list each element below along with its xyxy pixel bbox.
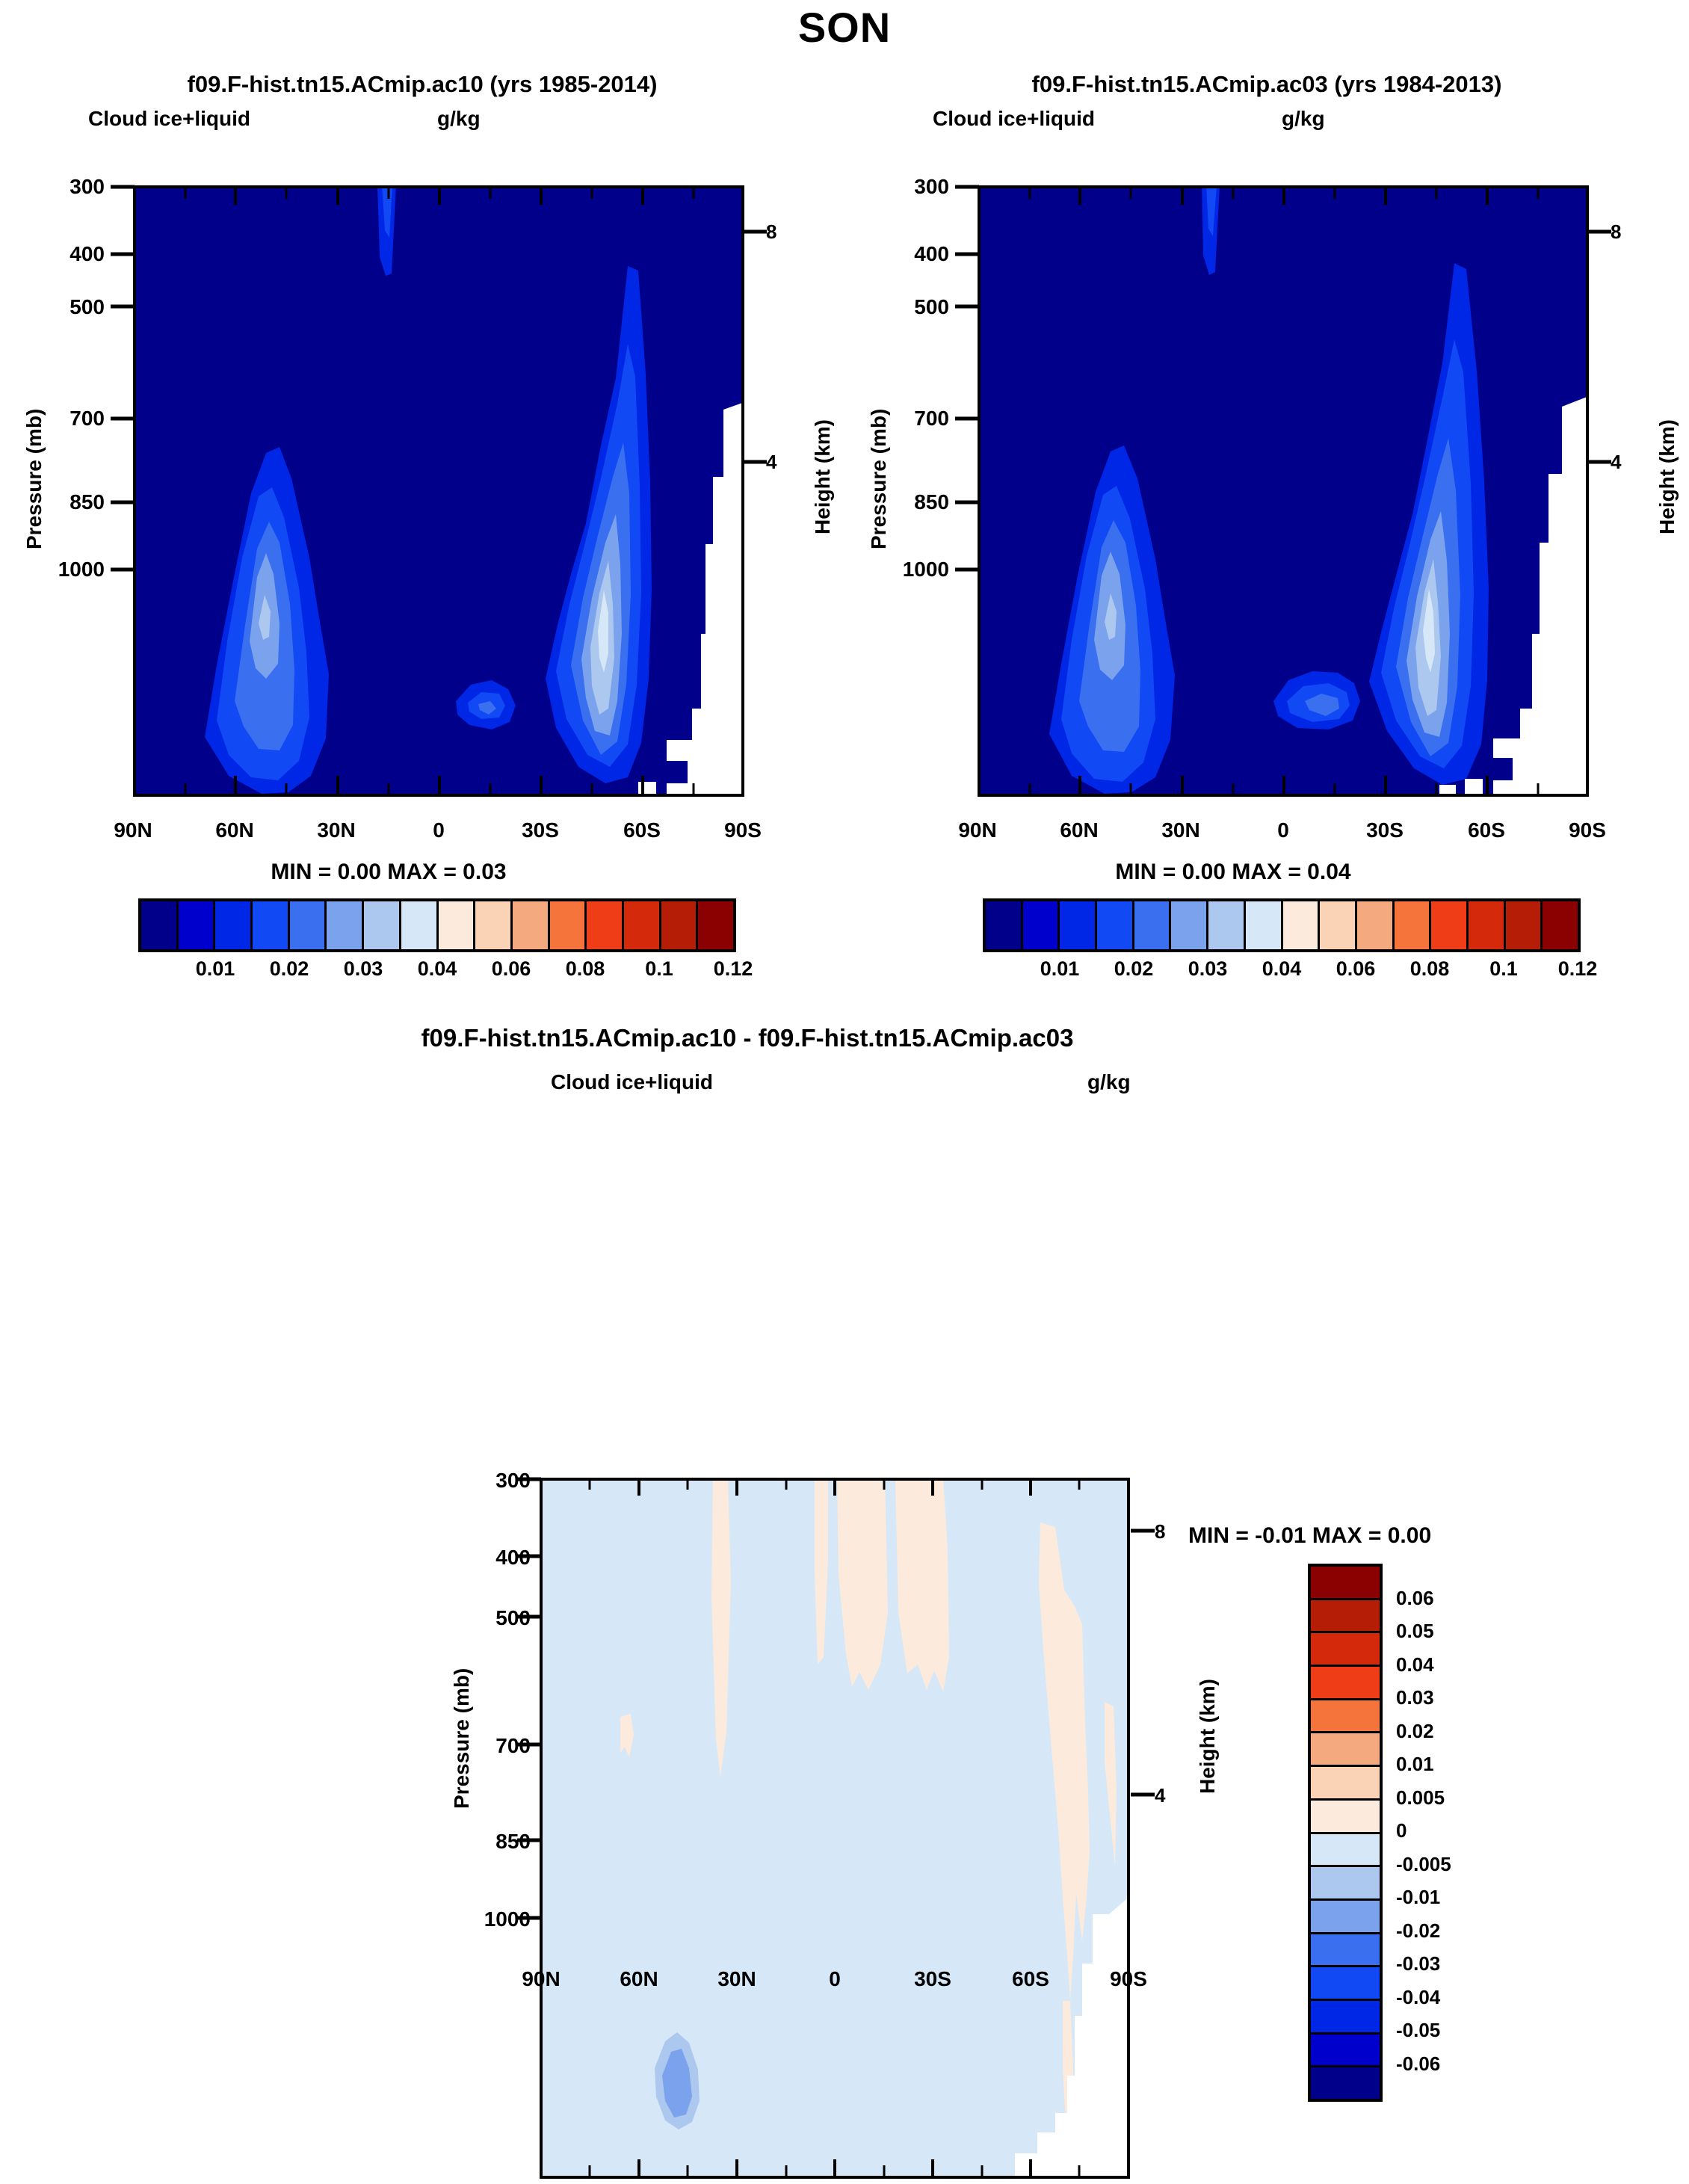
panel-left-colorbar	[138, 898, 736, 952]
panel-left-y-ticks	[106, 182, 136, 802]
colorbar-tick-label: 0.06	[1396, 1587, 1560, 1610]
colorbar-cell	[1021, 901, 1058, 949]
colorbar-cell	[250, 901, 288, 949]
colorbar-cell	[696, 901, 733, 949]
colorbar-cell	[141, 901, 176, 949]
panel-diff-title: f09.F-hist.tn15.ACmip.ac10 - f09.F-hist.…	[149, 1024, 1345, 1052]
panel-left-contour-plot	[133, 185, 744, 797]
colorbar-cell	[1244, 901, 1281, 949]
x-tick-30S: 30S	[889, 1967, 976, 1991]
panel-diff-variable-label: Cloud ice+liquid	[551, 1070, 713, 1094]
colorbar-cell	[1057, 901, 1095, 949]
panel-right-contour-plot	[978, 185, 1589, 797]
y-tick-400: 400	[30, 242, 105, 266]
x-tick-60S: 60S	[987, 1967, 1074, 1991]
panel-right-y2-ticks	[1586, 182, 1616, 802]
colorbar-cell	[362, 901, 399, 949]
panel-right-y-ticks	[951, 182, 981, 802]
colorbar-cell	[1311, 1898, 1380, 1932]
colorbar-cell	[1540, 901, 1578, 949]
panel-diff-colorbar-labels: 0.060.050.040.030.020.010.0050-0.005-0.0…	[1396, 1564, 1560, 2102]
panel-left-minmax: MIN = 0.00 MAX = 0.03	[90, 860, 688, 885]
x-tick-90S: 90S	[700, 818, 786, 842]
colorbar-cell	[1281, 901, 1318, 949]
panel-right-y2-axis-label: Height (km)	[1655, 419, 1679, 534]
colorbar-cell	[1311, 1798, 1380, 1832]
colorbar-cell	[1311, 1865, 1380, 1898]
panel-right-title: f09.F-hist.tn15.ACmip.ac03 (yrs 1984-201…	[844, 71, 1689, 98]
colorbar-cell	[1311, 1999, 1380, 2032]
colorbar-cell	[1311, 1765, 1380, 1798]
colorbar-cell	[1355, 901, 1392, 949]
x-tick-30N: 30N	[694, 1967, 780, 1991]
colorbar-tick-label: 0.05	[1396, 1620, 1560, 1643]
x-tick-30N: 30N	[293, 818, 380, 842]
panel-left-title: f09.F-hist.tn15.ACmip.ac10 (yrs 1985-201…	[0, 71, 844, 98]
colorbar-tick-label: 0.12	[1533, 957, 1622, 981]
colorbar-cell	[176, 901, 214, 949]
colorbar-tick-label: 0.01	[1396, 1753, 1560, 1776]
panel-right-colorbar	[983, 898, 1581, 952]
colorbar-cell	[1132, 901, 1170, 949]
x-tick-90N: 90N	[934, 818, 1021, 842]
colorbar-cell	[622, 901, 659, 949]
panel-right-minmax: MIN = 0.00 MAX = 0.04	[934, 860, 1532, 885]
panel-diff-contour-plot	[540, 1478, 1130, 2179]
colorbar-cell	[1311, 1965, 1380, 1999]
x-tick-90N: 90N	[90, 818, 176, 842]
panel-right-units-label: g/kg	[1282, 107, 1325, 131]
x-tick-90S: 90S	[1544, 818, 1631, 842]
panel-diff-units-label: g/kg	[1087, 1070, 1131, 1094]
colorbar-tick-label: -0.02	[1396, 1919, 1560, 1943]
y-tick-700: 700	[874, 407, 949, 431]
y-tick-1000: 1000	[856, 558, 949, 582]
colorbar-cell	[436, 901, 474, 949]
x-tick-60N: 60N	[596, 1967, 682, 1991]
panel-diff-y2-ticks	[1129, 1474, 1159, 2184]
x-tick-60S: 60S	[599, 818, 685, 842]
x-tick-0: 0	[791, 1967, 878, 1991]
panel-diff-y2-axis-label: Height (km)	[1196, 1679, 1220, 1794]
colorbar-tick-label: -0.06	[1396, 2052, 1560, 2076]
colorbar-cell	[1311, 2032, 1380, 2066]
panel-left-variable-label: Cloud ice+liquid	[88, 107, 250, 131]
panel-left-y2-axis-label: Height (km)	[811, 419, 835, 534]
colorbar-tick-label: 0.005	[1396, 1786, 1560, 1810]
colorbar-cell	[324, 901, 362, 949]
colorbar-tick-label: -0.05	[1396, 2019, 1560, 2042]
panel-right: f09.F-hist.tn15.ACmip.ac03 (yrs 1984-201…	[844, 71, 1689, 1005]
page-title: SON	[0, 3, 1689, 52]
colorbar-cell	[399, 901, 436, 949]
y-tick-400: 400	[874, 242, 949, 266]
y-tick-300: 300	[874, 175, 949, 199]
colorbar-tick-label: -0.005	[1396, 1853, 1560, 1876]
colorbar-cell	[1466, 901, 1504, 949]
colorbar-cell	[510, 901, 548, 949]
panel-diff: f09.F-hist.tn15.ACmip.ac10 - f09.F-hist.…	[0, 1024, 1689, 1807]
colorbar-cell	[1311, 1598, 1380, 1632]
panel-left-units-label: g/kg	[437, 107, 481, 131]
colorbar-tick-label: 0.04	[1396, 1653, 1560, 1676]
panel-diff-minmax: MIN = -0.01 MAX = 0.00	[1188, 1523, 1607, 1549]
colorbar-cell	[1311, 1665, 1380, 1698]
colorbar-tick-label: -0.01	[1396, 1886, 1560, 1909]
y-tick-700: 700	[30, 407, 105, 431]
colorbar-cell	[1206, 901, 1244, 949]
colorbar-cell	[1311, 1832, 1380, 1866]
colorbar-cell	[288, 901, 325, 949]
panel-left-y2-ticks	[741, 182, 771, 802]
colorbar-cell	[1318, 901, 1355, 949]
colorbar-cell	[1311, 1932, 1380, 1966]
y-tick-850: 850	[30, 490, 105, 514]
y-tick-500: 500	[874, 295, 949, 319]
colorbar-cell	[1095, 901, 1132, 949]
panel-diff-y-ticks	[513, 1474, 543, 2184]
colorbar-tick-label: 0	[1396, 1819, 1560, 1842]
panel-left: f09.F-hist.tn15.ACmip.ac10 (yrs 1985-201…	[0, 71, 844, 1005]
x-tick-0: 0	[395, 818, 482, 842]
colorbar-tick-label: 0.12	[688, 957, 778, 981]
colorbar-cell	[1504, 901, 1541, 949]
x-tick-30S: 30S	[1341, 818, 1428, 842]
colorbar-cell	[1311, 2065, 1380, 2099]
x-tick-60S: 60S	[1443, 818, 1530, 842]
colorbar-tick-label: 0.02	[1396, 1720, 1560, 1743]
panel-right-colorbar-labels: 0.010.020.030.040.060.080.10.12	[983, 957, 1581, 987]
colorbar-cell	[1392, 901, 1430, 949]
x-tick-30S: 30S	[497, 818, 584, 842]
colorbar-cell	[1169, 901, 1206, 949]
y-tick-850: 850	[874, 490, 949, 514]
colorbar-cell	[548, 901, 585, 949]
colorbar-cell	[1311, 1567, 1380, 1598]
colorbar-cell	[1311, 1731, 1380, 1765]
colorbar-cell	[473, 901, 510, 949]
colorbar-tick-label: -0.03	[1396, 1952, 1560, 1975]
colorbar-cell	[584, 901, 622, 949]
colorbar-cell	[1311, 1631, 1380, 1665]
panel-right-variable-label: Cloud ice+liquid	[933, 107, 1095, 131]
colorbar-cell	[1311, 1698, 1380, 1732]
colorbar-cell	[986, 901, 1021, 949]
x-tick-30N: 30N	[1137, 818, 1224, 842]
x-tick-0: 0	[1240, 818, 1327, 842]
y-tick-300: 300	[30, 175, 105, 199]
x-tick-60N: 60N	[1036, 818, 1123, 842]
x-tick-90N: 90N	[498, 1967, 584, 1991]
x-tick-60N: 60N	[191, 818, 278, 842]
y-tick-1000: 1000	[11, 558, 105, 582]
colorbar-cell	[659, 901, 697, 949]
colorbar-cell	[1429, 901, 1466, 949]
colorbar-tick-label: -0.04	[1396, 1986, 1560, 2009]
panel-left-colorbar-labels: 0.010.020.030.040.060.080.10.12	[138, 957, 736, 987]
x-tick-90S: 90S	[1085, 1967, 1172, 1991]
colorbar-cell	[213, 901, 250, 949]
panel-diff-colorbar	[1308, 1564, 1383, 2102]
y-tick-500: 500	[30, 295, 105, 319]
colorbar-tick-label: 0.03	[1396, 1686, 1560, 1709]
